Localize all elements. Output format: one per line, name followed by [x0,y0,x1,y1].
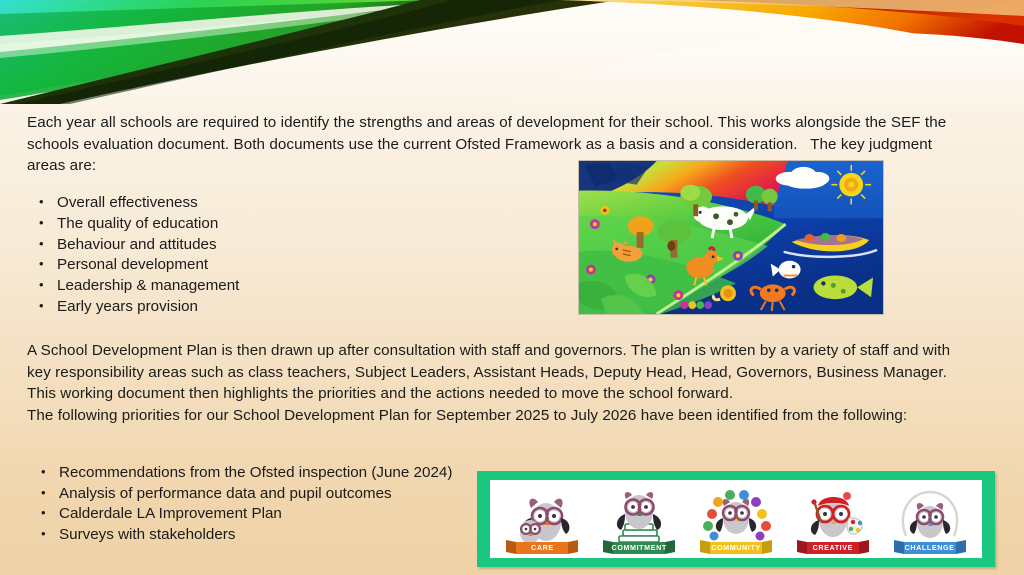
decorative-swoosh-banner [0,0,1024,104]
value-creative: CREATIVE [787,480,879,556]
value-challenge: CHALLENGE [884,480,976,556]
value-care: CARE [496,480,588,556]
childrens-painting [578,160,884,315]
swoosh-graphic [0,0,1024,104]
sdp-paragraph: A School Development Plan is then drawn … [27,340,957,426]
priority-sources-list: Recommendations from the Ofsted inspecti… [27,463,497,546]
owl-community-icon [698,490,774,556]
values-strip: CARE [490,480,982,558]
list-item: Behaviour and attitudes [27,235,457,256]
value-community: COMMUNITY [690,480,782,556]
judgment-areas-list: Overall effectiveness The quality of edu… [27,193,457,318]
painting-graphic [579,161,883,314]
list-item: Early years provision [27,297,457,318]
owl-creative-icon [795,490,871,556]
slide-canvas: Each year all schools are required to id… [0,0,1024,575]
value-commitment: COMMITMENT [593,480,685,556]
list-item: Personal development [27,255,457,276]
owl-challenge-icon [892,490,968,556]
list-item: Analysis of performance data and pupil o… [27,484,497,505]
school-values-banner: CARE [477,471,995,567]
list-item: Surveys with stakeholders [27,525,497,546]
list-item: The quality of education [27,214,457,235]
list-item: Leadership & management [27,276,457,297]
list-item: Recommendations from the Ofsted inspecti… [27,463,497,484]
owl-commitment-icon [601,490,677,556]
owl-care-icon [504,490,580,556]
list-item: Overall effectiveness [27,193,457,214]
list-item: Calderdale LA Improvement Plan [27,504,497,525]
